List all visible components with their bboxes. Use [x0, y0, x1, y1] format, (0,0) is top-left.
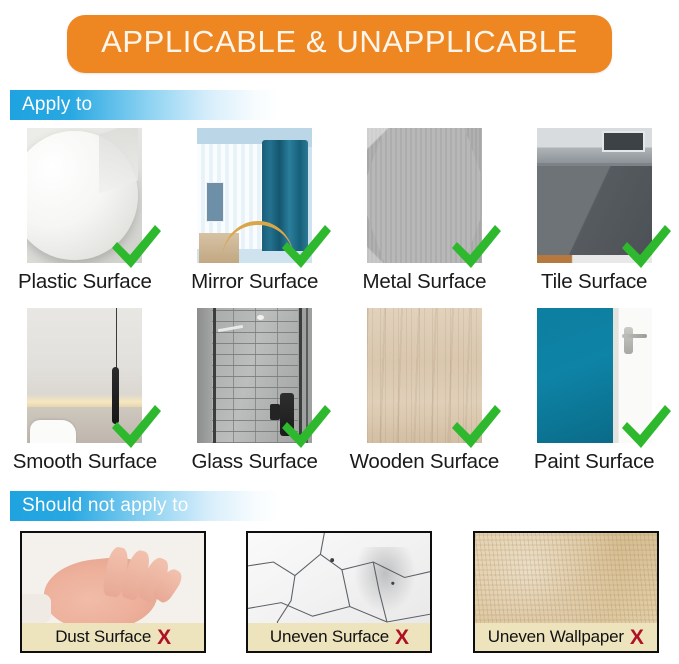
apply-grid-row-1: Plastic Surface Mirror Surface Meta: [0, 128, 679, 294]
thumbnail-wooden-surface: [367, 308, 482, 443]
thumbnail-mirror-surface: [197, 128, 312, 263]
deny-item-label: Uneven Wallpaper: [488, 627, 624, 647]
thumbnail-smooth-surface: [27, 308, 142, 443]
thumbnail-holder: [367, 308, 482, 443]
deny-item-label: Dust Surface: [55, 627, 151, 647]
deny-item-band: Uneven Surface X: [248, 623, 430, 651]
section-header-apply-to: Apply to: [10, 90, 670, 120]
apply-item-tile-surface[interactable]: Tile Surface: [514, 128, 674, 294]
apply-item-label: Paint Surface: [534, 450, 654, 474]
thumbnail-holder: [537, 128, 652, 263]
apply-item-wooden-surface[interactable]: Wooden Surface: [344, 308, 504, 474]
apply-item-label: Tile Surface: [541, 270, 647, 294]
thumbnail-plastic-surface: [27, 128, 142, 263]
page-title: APPLICABLE & UNAPPLICABLE: [101, 26, 578, 59]
section-header-should-not-apply-to: Should not apply to: [10, 491, 670, 521]
deny-item-label: Uneven Surface: [270, 627, 389, 647]
thumbnail-holder: [197, 308, 312, 443]
section-header-should-not-apply-to-label: Should not apply to: [10, 495, 188, 517]
thumbnail-holder: [27, 128, 142, 263]
deny-item-dust-surface[interactable]: Dust Surface X: [20, 531, 206, 653]
red-x-icon: X: [630, 627, 644, 648]
deny-item-uneven-wallpaper[interactable]: Uneven Wallpaper X: [473, 531, 659, 653]
apply-grid-row-2: Smooth Surface Glass Surface: [0, 308, 679, 474]
apply-item-label: Glass Surface: [192, 450, 318, 474]
apply-item-label: Wooden Surface: [350, 450, 500, 474]
thumbnail-holder: [27, 308, 142, 443]
red-x-icon: X: [395, 627, 409, 648]
section-header-apply-to-label: Apply to: [10, 94, 92, 116]
thumbnail-tile-surface: [537, 128, 652, 263]
apply-item-label: Metal Surface: [362, 270, 486, 294]
apply-item-glass-surface[interactable]: Glass Surface: [175, 308, 335, 474]
apply-item-metal-surface[interactable]: Metal Surface: [344, 128, 504, 294]
thumbnail-paint-surface: [537, 308, 652, 443]
red-x-icon: X: [157, 627, 171, 648]
apply-item-plastic-surface[interactable]: Plastic Surface: [5, 128, 165, 294]
deny-item-uneven-surface[interactable]: Uneven Surface X: [246, 531, 432, 653]
thumbnail-holder: [537, 308, 652, 443]
deny-item-band: Uneven Wallpaper X: [475, 623, 657, 651]
apply-item-label: Mirror Surface: [191, 270, 318, 294]
apply-item-label: Smooth Surface: [13, 450, 157, 474]
thumbnail-holder: [367, 128, 482, 263]
thumbnail-metal-surface: [367, 128, 482, 263]
deny-item-band: Dust Surface X: [22, 623, 204, 651]
deny-grid-row: Dust Surface X: [0, 531, 679, 653]
apply-item-smooth-surface[interactable]: Smooth Surface: [5, 308, 165, 474]
apply-item-paint-surface[interactable]: Paint Surface: [514, 308, 674, 474]
thumbnail-holder: [197, 128, 312, 263]
apply-item-label: Plastic Surface: [18, 270, 152, 294]
apply-item-mirror-surface[interactable]: Mirror Surface: [175, 128, 335, 294]
title-banner-area: APPLICABLE & UNAPPLICABLE: [0, 0, 679, 88]
thumbnail-glass-surface: [197, 308, 312, 443]
title-banner: APPLICABLE & UNAPPLICABLE: [67, 15, 612, 73]
